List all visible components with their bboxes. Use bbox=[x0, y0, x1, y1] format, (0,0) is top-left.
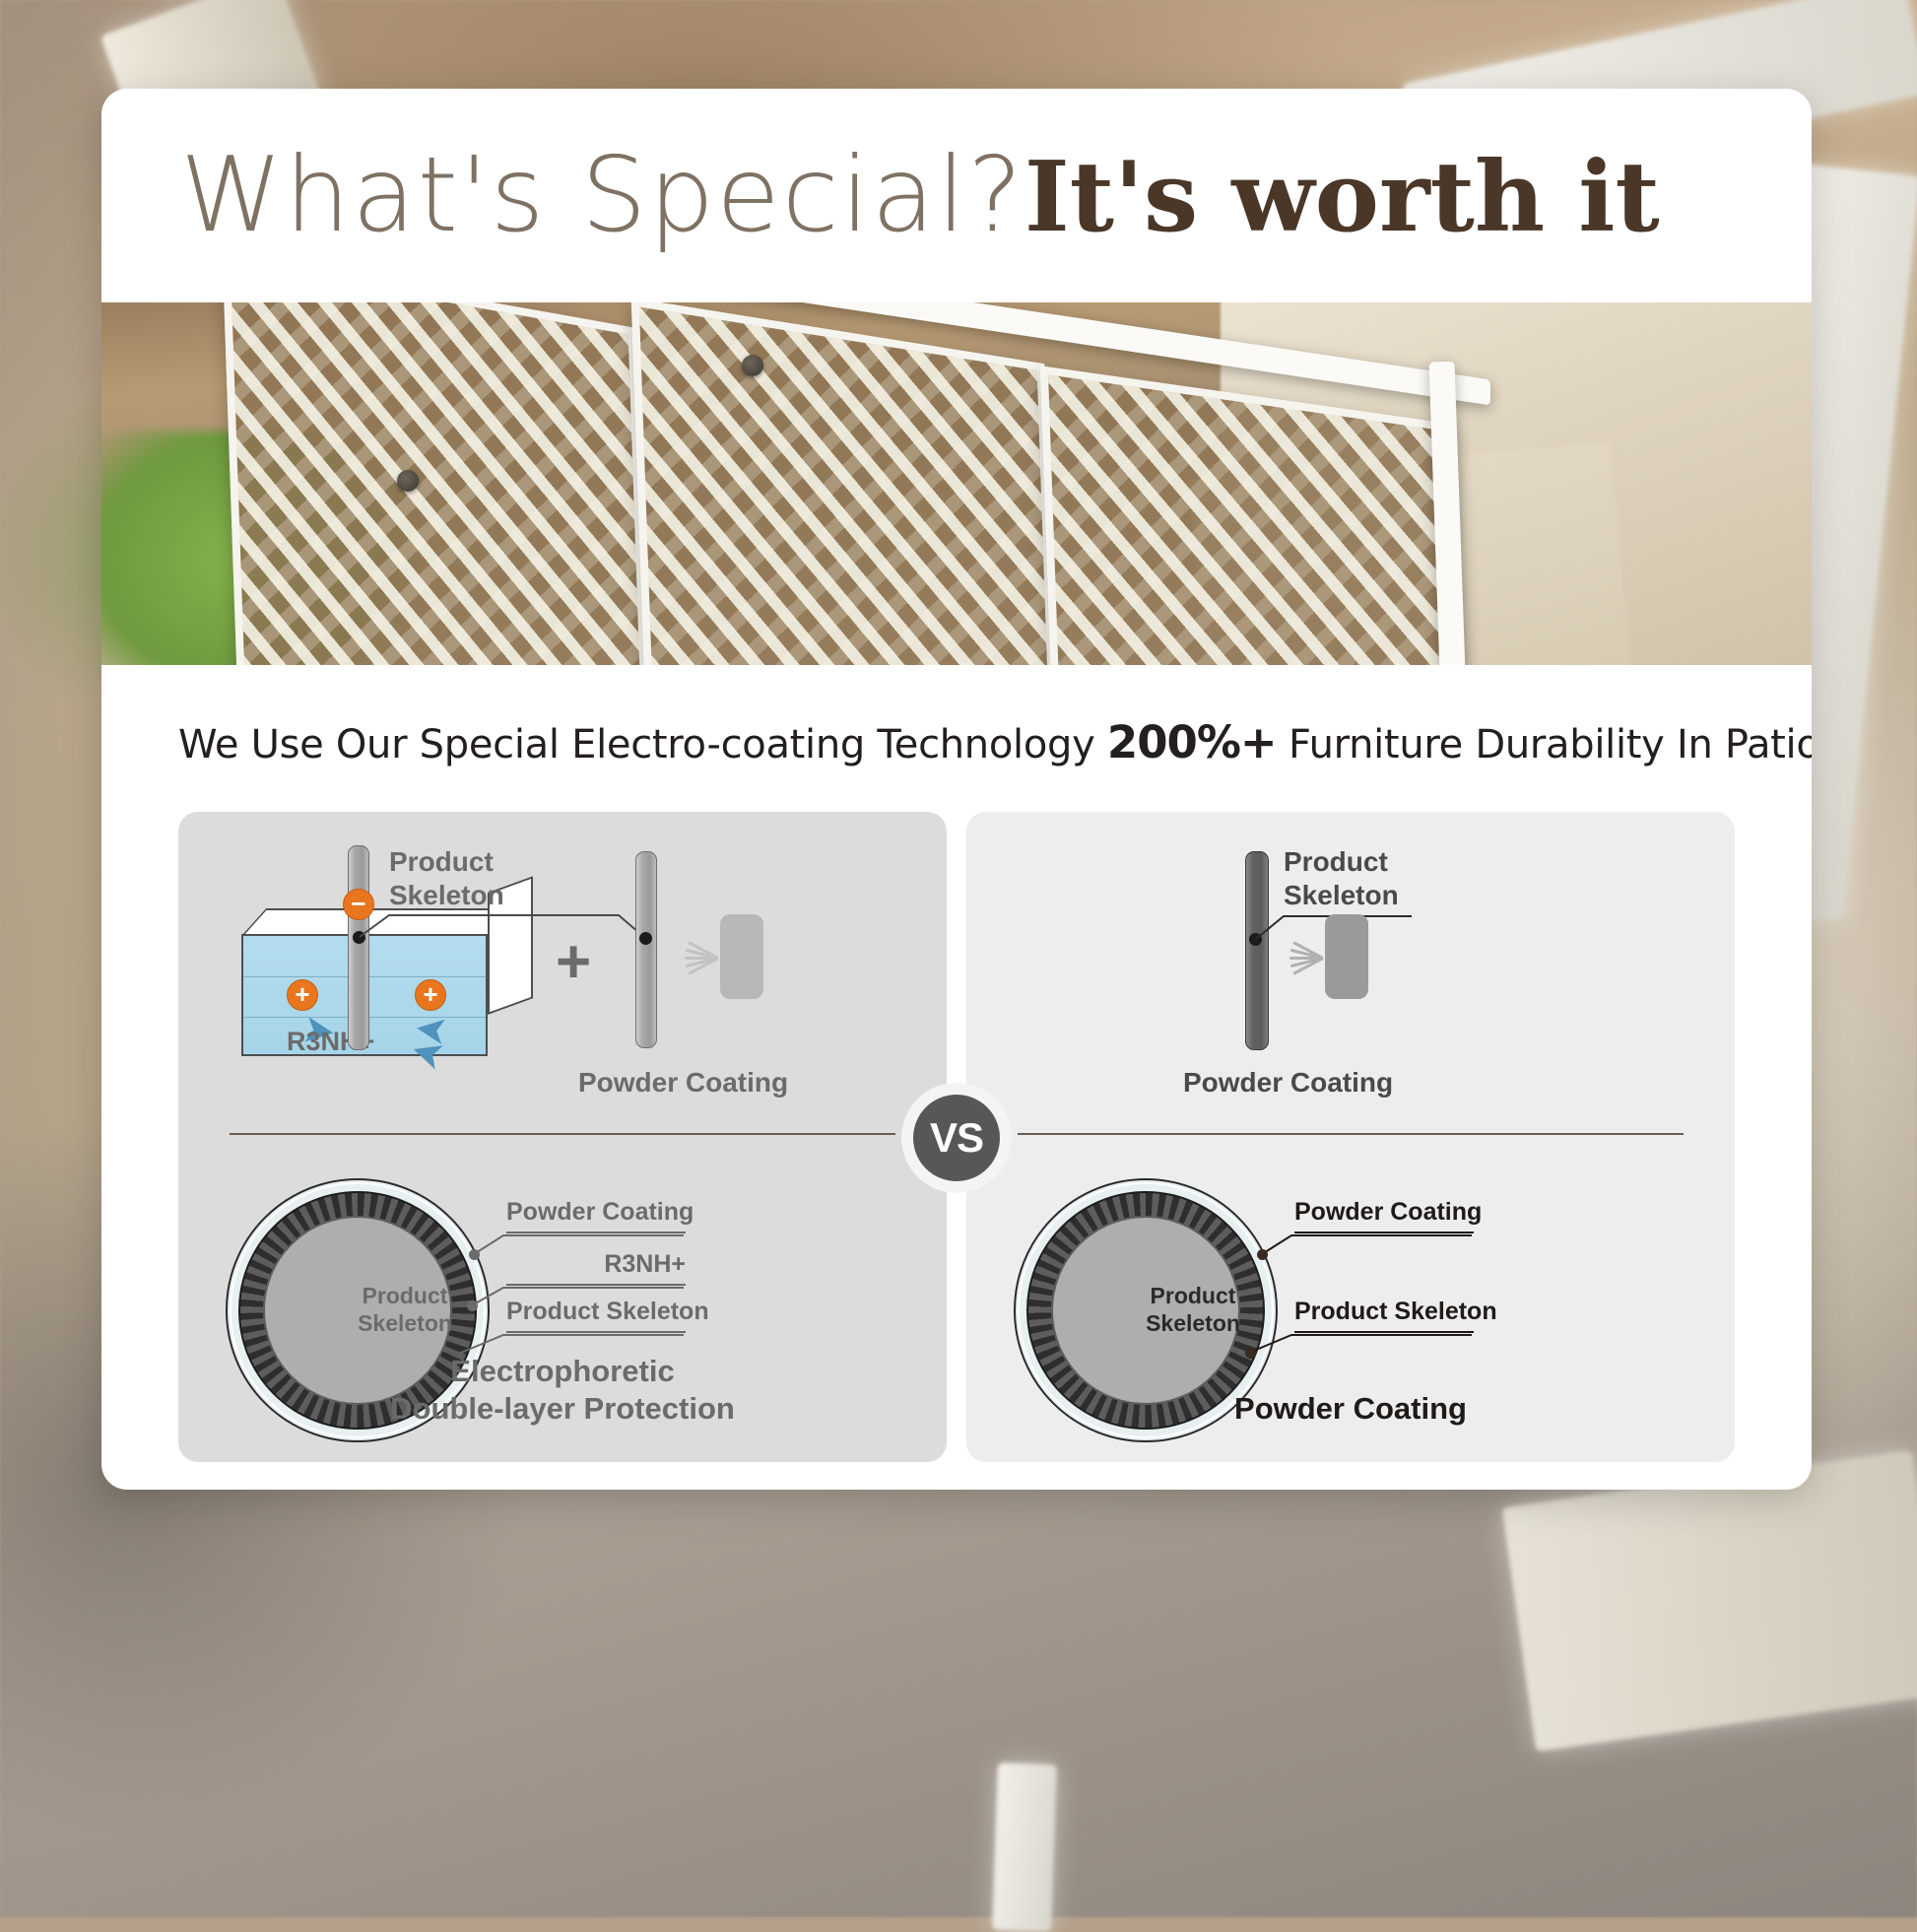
xs-core: Product Skeleton bbox=[1051, 1216, 1240, 1405]
leader-dot bbox=[639, 932, 652, 945]
subtitle: We Use Our Special Electro-coating Techn… bbox=[178, 716, 1735, 768]
callout-dot bbox=[1245, 1348, 1256, 1359]
leader-dot bbox=[1249, 933, 1262, 946]
spray-nozzle-icon bbox=[1325, 914, 1368, 999]
callout-underline bbox=[506, 1331, 686, 1333]
vs-badge-wrapper: VS bbox=[901, 1083, 1012, 1193]
xs-core-label: Product Skeleton bbox=[1146, 1283, 1240, 1337]
header: What's Special?It's worth it bbox=[101, 89, 1812, 302]
hero-screw-icon bbox=[397, 470, 419, 492]
callout-text: Product Skeleton bbox=[1294, 1298, 1474, 1331]
powder-coating-label-right: Powder Coating bbox=[1183, 1066, 1393, 1099]
hero-screw-icon bbox=[742, 355, 763, 376]
callout-product-skeleton-right: Product Skeleton bbox=[1294, 1298, 1474, 1333]
panel-powder-coating: Product Skeleton Powder Coating bbox=[966, 812, 1735, 1462]
core-label-line2: Skeleton bbox=[358, 1310, 452, 1336]
powder-coating-rod bbox=[635, 851, 657, 1048]
callout-underline bbox=[1294, 1232, 1474, 1233]
callout-text: Powder Coating bbox=[506, 1198, 686, 1232]
plus-sign: + bbox=[556, 932, 591, 993]
vs-badge: VS bbox=[913, 1095, 1000, 1181]
caption-line2: Double-layer Protection bbox=[390, 1391, 735, 1426]
panel-divider bbox=[230, 1133, 895, 1135]
hero-lattice-panel bbox=[631, 302, 1060, 665]
callout-underline bbox=[506, 1232, 686, 1233]
callout-dot bbox=[1257, 1249, 1268, 1260]
comparison-panels: + + ➤ ➤ ➤ R3NH+ − Product Skeleton bbox=[178, 812, 1735, 1462]
product-skeleton-label-right: Product Skeleton bbox=[1284, 845, 1399, 912]
electrophoresis-bath-icon: + + ➤ ➤ ➤ R3NH+ bbox=[241, 908, 533, 1056]
subtitle-highlight: 200%+ bbox=[1107, 716, 1277, 768]
page-title: What's Special?It's worth it bbox=[180, 144, 1660, 247]
xs-core-label: Product Skeleton bbox=[358, 1283, 452, 1337]
spray-nozzle-icon bbox=[720, 914, 763, 999]
callout-underline bbox=[506, 1284, 686, 1286]
label-line-1: Product bbox=[389, 845, 504, 879]
panel-caption-left: Electrophoretic Double-layer Protection bbox=[178, 1353, 947, 1430]
callout-powder-coating-right: Powder Coating bbox=[1294, 1198, 1474, 1233]
label-line-2: Skeleton bbox=[389, 879, 504, 912]
label-line-1: Product bbox=[1284, 845, 1399, 879]
callout-dot bbox=[467, 1300, 478, 1311]
callout-text: Powder Coating bbox=[1294, 1198, 1474, 1232]
right-process-diagram: Product Skeleton Powder Coating bbox=[966, 812, 1735, 1133]
card-body: We Use Our Special Electro-coating Techn… bbox=[101, 716, 1812, 1462]
left-process-diagram: + + ➤ ➤ ➤ R3NH+ − Product Skeleton bbox=[178, 812, 947, 1133]
subtitle-part2: Furniture Durability In Patio & Outdoor bbox=[1277, 722, 1812, 767]
core-label-line2: Skeleton bbox=[1146, 1310, 1240, 1336]
title-bold-part: It's worth it bbox=[1025, 141, 1660, 254]
negative-ion-icon: − bbox=[343, 889, 374, 920]
background-rail bbox=[1502, 1450, 1917, 1752]
positive-ion-icon: + bbox=[287, 979, 318, 1011]
callout-powder-coating-left: Powder Coating bbox=[506, 1198, 686, 1233]
caption-line1: Electrophoretic bbox=[450, 1354, 674, 1388]
core-label-line1: Product bbox=[363, 1283, 448, 1308]
callout-text: R3NH+ bbox=[506, 1250, 686, 1284]
product-skeleton-label-left: Product Skeleton bbox=[389, 845, 504, 912]
callout-r3nh-left: R3NH+ bbox=[506, 1250, 686, 1286]
panel-caption-right: Powder Coating bbox=[966, 1390, 1735, 1429]
hero-photo bbox=[101, 302, 1812, 665]
panel-electrophoretic: + + ➤ ➤ ➤ R3NH+ − Product Skeleton bbox=[178, 812, 947, 1462]
powder-coating-label-left: Powder Coating bbox=[578, 1066, 788, 1099]
product-skeleton-rod bbox=[348, 845, 369, 1050]
callout-text: Product Skeleton bbox=[506, 1298, 686, 1331]
core-label-line1: Product bbox=[1151, 1283, 1236, 1308]
infographic-card: What's Special?It's worth it We Use Our … bbox=[101, 89, 1812, 1490]
leader-dot bbox=[353, 931, 365, 944]
callout-underline bbox=[1294, 1331, 1474, 1333]
background-rail bbox=[992, 1763, 1057, 1932]
subtitle-part1: We Use Our Special Electro-coating Techn… bbox=[178, 722, 1107, 767]
title-light-part: What's Special? bbox=[180, 135, 1025, 255]
product-skeleton-rod-dark bbox=[1245, 851, 1269, 1050]
callout-product-skeleton-left: Product Skeleton bbox=[506, 1298, 686, 1333]
hero-lattice-panel bbox=[223, 302, 651, 665]
callout-dot bbox=[469, 1249, 480, 1260]
panel-divider bbox=[1018, 1133, 1684, 1135]
label-line-2: Skeleton bbox=[1284, 879, 1399, 912]
